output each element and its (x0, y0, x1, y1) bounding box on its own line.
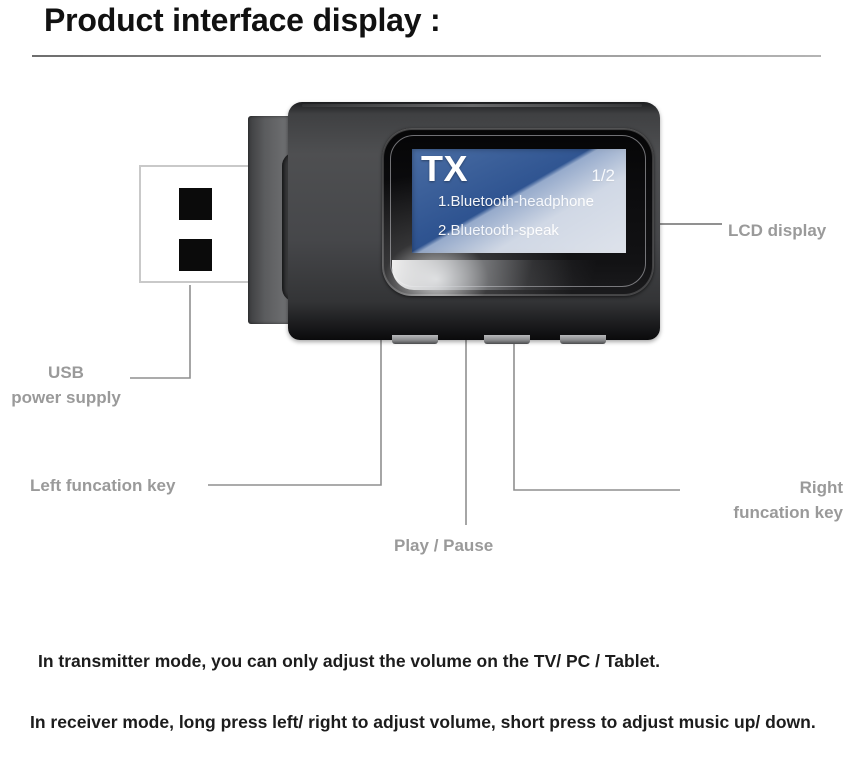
lcd-bezel: TX 1/2 1.Bluetooth-headphone 2.Bluetooth… (382, 128, 654, 296)
lcd-menu-item[interactable]: 2.Bluetooth-speak (438, 222, 559, 239)
device-body-shell: TX 1/2 1.Bluetooth-headphone 2.Bluetooth… (288, 102, 660, 340)
note-receiver-mode: In receiver mode, long press left/ right… (30, 708, 853, 736)
usb-contact-pin (179, 188, 212, 220)
page-title: Product interface display : (44, 2, 440, 39)
lcd-display[interactable]: TX 1/2 1.Bluetooth-headphone 2.Bluetooth… (412, 149, 626, 253)
callout-usb-line-1: USB (48, 363, 84, 382)
left-function-key-button[interactable] (392, 335, 438, 344)
title-divider (32, 55, 821, 57)
callout-lcd-display: LCD display (728, 218, 826, 243)
lcd-content: TX 1/2 1.Bluetooth-headphone 2.Bluetooth… (412, 149, 626, 253)
callout-right-key-line-2: funcation key (733, 503, 843, 522)
usb-connector (139, 165, 264, 283)
callout-usb-power-supply: USB power supply (2, 360, 130, 410)
callout-right-key-line-1: Right (800, 478, 843, 497)
leader-left-key (208, 338, 381, 485)
lcd-page-indicator: 1/2 (591, 166, 615, 186)
callout-right-function-key: Right funcation key (673, 475, 843, 525)
play-pause-button[interactable] (484, 335, 530, 344)
callout-usb-line-2: power supply (11, 388, 121, 407)
callout-left-function-key: Left funcation key (30, 473, 175, 498)
lcd-mode-label: TX (421, 150, 468, 188)
device-top-highlight (302, 104, 642, 107)
note-transmitter-mode: In transmitter mode, you can only adjust… (38, 647, 660, 675)
right-function-key-button[interactable] (560, 335, 606, 344)
usb-contact-pin (179, 239, 212, 271)
lcd-menu-item[interactable]: 1.Bluetooth-headphone (438, 193, 594, 210)
product-diagram: TX 1/2 1.Bluetooth-headphone 2.Bluetooth… (0, 70, 853, 630)
bluetooth-adapter-device: TX 1/2 1.Bluetooth-headphone 2.Bluetooth… (248, 102, 660, 342)
leader-right-key (514, 338, 680, 490)
leader-usb (130, 285, 190, 378)
callout-play-pause: Play / Pause (394, 533, 493, 558)
